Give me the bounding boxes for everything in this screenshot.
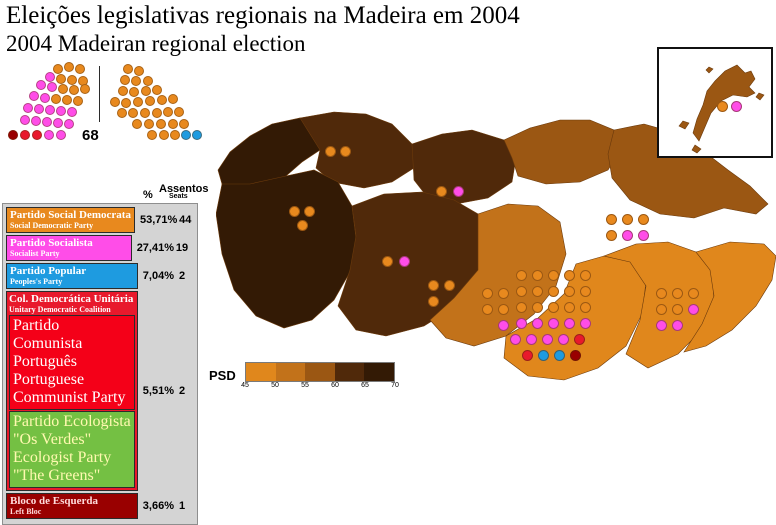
municipality-calheta	[216, 170, 356, 328]
parliament-seat-dot	[131, 76, 141, 86]
legend-col-pct: %	[143, 189, 153, 201]
scale-tick-65: 65	[361, 382, 369, 389]
map-seat-dot	[340, 146, 351, 157]
parliament-seat-dot	[147, 130, 157, 140]
parliament-seat-dot	[56, 74, 66, 84]
map-seat-dot	[526, 334, 537, 345]
map-seat-dot	[498, 304, 509, 315]
legend-seats: 19	[174, 242, 190, 254]
map-seat-dot	[570, 350, 581, 361]
map-seat-dot	[382, 256, 393, 267]
scale-tick-70: 70	[391, 382, 399, 389]
map-seat-dot	[548, 286, 559, 297]
parliament-seat-dot	[128, 108, 138, 118]
parliament-seat-dot	[144, 119, 154, 129]
parliament-seat-dot	[31, 116, 41, 126]
municipality-faial	[504, 120, 620, 184]
parliament-seat-dot	[170, 130, 180, 140]
map-seat-dot	[516, 270, 527, 281]
parliament-seat-dot	[32, 130, 42, 140]
legend-seats: 44	[177, 214, 193, 226]
map-seat-dot	[672, 288, 683, 299]
legend-col-seats-en: Seats	[169, 193, 188, 200]
map-seat-dot	[656, 288, 667, 299]
map-seat-dot	[498, 288, 509, 299]
parliament-seat-dot	[42, 117, 52, 127]
map-seat-dot	[548, 270, 559, 281]
map-seat-dot	[731, 101, 742, 112]
legend-swatch-cdu: Col. Democrática UnitáriaUnitary Democra…	[6, 291, 138, 491]
parliament-seat-dot	[67, 75, 77, 85]
legend-name-en: Left Bloc	[10, 507, 134, 516]
parliament-seat-dot	[157, 95, 167, 105]
parliament-seat-dot	[168, 119, 178, 129]
legend-swatch-pcp: Partido Comunista PortuguêsPortuguese Co…	[9, 315, 135, 410]
map-seat-dot	[548, 318, 559, 329]
map-seat-dot	[538, 350, 549, 361]
parliament-seat-dot	[62, 95, 72, 105]
scale-tick-labels: 455055606570	[245, 382, 395, 394]
parliament-seat-dot	[40, 93, 50, 103]
legend-name-en: Unitary Democratic Coalition	[9, 305, 135, 314]
map-seat-dot	[444, 280, 455, 291]
legend-header: % Assentos Seats	[2, 184, 198, 204]
parliament-seat-dot	[45, 105, 55, 115]
parliament-seat-dot	[23, 103, 33, 113]
legend-name-en: Social Democratic Party	[10, 221, 131, 230]
parliament-seat-dot	[73, 96, 83, 106]
legend-name-pt: Bloco de Esquerda	[10, 495, 134, 507]
legend-row-psd: Partido Social DemocrataSocial Democrati…	[6, 207, 194, 233]
legend-pct: 27,41%	[137, 242, 174, 254]
parliament-seat-dot	[174, 107, 184, 117]
legend-name-en: Portuguese Communist Party	[13, 371, 131, 407]
parliament-seat-dot	[36, 80, 46, 90]
legend-row-cdu: Col. Democrática UnitáriaUnitary Democra…	[6, 291, 194, 491]
map-seat-dot	[522, 350, 533, 361]
legend-name-en: Socialist Party	[10, 249, 128, 258]
parliament-seat-dot	[181, 130, 191, 140]
legend-cdu-head: Col. Democrática UnitáriaUnitary Democra…	[9, 293, 135, 314]
map-seat-dot	[574, 334, 585, 345]
map-seat-dot	[399, 256, 410, 267]
parliament-seat-dot	[64, 119, 74, 129]
map-seat-dot	[606, 214, 617, 225]
parliament-seat-dot	[120, 75, 130, 85]
parliament-seat-dot	[159, 130, 169, 140]
legend-numbers: 5,51%2	[138, 291, 194, 491]
parliament-seat-dot	[141, 86, 151, 96]
map-seat-dot	[558, 334, 569, 345]
parliament-seat-dot	[163, 107, 173, 117]
legend-swatch-cds-pp: Partido PopularPeoples's Party	[6, 263, 138, 289]
legend-row-ps: Partido SocialistaSocialist Party27,41%1…	[6, 235, 194, 261]
map-seat-dot	[564, 270, 575, 281]
map-seat-dot	[564, 286, 575, 297]
map-seat-dot	[482, 304, 493, 315]
map-seat-dot	[532, 286, 543, 297]
party-legend-table: Partido Social DemocrataSocial Democrati…	[2, 203, 198, 525]
parliament-seat-dot	[75, 64, 85, 74]
parliament-seat-dot	[129, 87, 139, 97]
scale-segment-1	[276, 363, 306, 381]
parliament-seat-dot	[56, 106, 66, 116]
map-seat-dot	[656, 304, 667, 315]
map-seat-dot	[297, 220, 308, 231]
legend-name-pt: Col. Democrática Unitária	[9, 293, 135, 305]
parliament-seat-dot	[123, 64, 133, 74]
parliament-seat-dot	[117, 108, 127, 118]
scale-tick-45: 45	[241, 382, 249, 389]
legend-swatch-ps: Partido SocialistaSocialist Party	[6, 235, 132, 261]
parliament-seat-dot	[51, 94, 61, 104]
parliament-seat-dot	[29, 91, 39, 101]
parliament-seat-dot	[145, 96, 155, 106]
map-seat-dot	[532, 270, 543, 281]
scale-party-label: PSD	[209, 368, 236, 383]
parliament-seat-dot	[69, 85, 79, 95]
parliament-seat-dot	[58, 84, 68, 94]
legend-numbers: 53,71%44	[135, 207, 197, 233]
parliament-seat-dot	[47, 82, 57, 92]
map-seat-dot	[580, 286, 591, 297]
map-seat-dot	[289, 206, 300, 217]
scale-segment-2	[305, 363, 335, 381]
map-seat-dot	[516, 318, 527, 329]
legend-seats: 2	[174, 270, 190, 282]
map-seat-dot	[622, 230, 633, 241]
map-seat-dot	[688, 304, 699, 315]
map-seat-dot	[638, 230, 649, 241]
parliament-seat-dot	[110, 97, 120, 107]
legend-row-be: Bloco de EsquerdaLeft Bloc3,66%1	[6, 493, 194, 519]
legend-numbers: 7,04%2	[138, 263, 194, 289]
scale-segment-0	[246, 363, 276, 381]
scale-tick-50: 50	[271, 382, 279, 389]
map-seat-dot	[688, 288, 699, 299]
parliament-seat-dot	[118, 86, 128, 96]
map-seat-dot	[542, 334, 553, 345]
parliament-seat-dot	[53, 64, 63, 74]
legend-swatch-psd: Partido Social DemocrataSocial Democrati…	[6, 207, 135, 233]
parliament-seat-dot	[152, 108, 162, 118]
map-seat-dot	[606, 230, 617, 241]
legend-swatch-pev: Partido Ecologista "Os Verdes"Ecologist …	[9, 411, 135, 488]
map-seat-dot	[498, 320, 509, 331]
parliament-seat-diagram	[4, 62, 216, 162]
map-seat-dot	[516, 286, 527, 297]
map-seat-dot	[656, 320, 667, 331]
parliament-seat-dot	[132, 119, 142, 129]
map-seat-dot	[325, 146, 336, 157]
map-seat-dot	[580, 302, 591, 313]
parliament-seat-dot	[56, 130, 66, 140]
map-seat-dot	[564, 302, 575, 313]
map-seat-dot	[672, 320, 683, 331]
parliament-seat-dot	[133, 97, 143, 107]
map-seat-dot	[532, 302, 543, 313]
legend-name-pt: Partido Social Democrata	[10, 209, 131, 221]
porto-santo-inset-map	[657, 47, 773, 158]
municipality-santana	[412, 130, 516, 204]
scale-tick-55: 55	[301, 382, 309, 389]
map-seat-dot	[482, 288, 493, 299]
map-seat-dot	[436, 186, 447, 197]
scale-tick-60: 60	[331, 382, 339, 389]
legend-name-pt: Partido Comunista Português	[13, 317, 131, 371]
scale-gradient-bar	[245, 362, 395, 382]
legend-pct: 53,71%	[140, 214, 177, 226]
map-seat-dot	[532, 318, 543, 329]
parliament-seat-dot	[179, 119, 189, 129]
parliament-seat-dot	[80, 84, 90, 94]
map-seat-dot	[548, 302, 559, 313]
legend-name-pt: Partido Ecologista "Os Verdes"	[13, 413, 131, 449]
map-seat-dot	[554, 350, 565, 361]
map-seat-dot	[717, 101, 728, 112]
total-seats-label: 68	[82, 127, 99, 144]
legend-seats: 1	[174, 500, 190, 512]
map-seat-dot	[510, 334, 521, 345]
parliament-seat-dot	[20, 115, 30, 125]
map-seat-dot	[428, 296, 439, 307]
map-seat-dot	[564, 318, 575, 329]
parliament-seat-dot	[140, 108, 150, 118]
scale-segment-3	[335, 363, 365, 381]
page-title-en: 2004 Madeiran regional election	[6, 31, 306, 57]
parliament-seat-dot	[34, 104, 44, 114]
parliament-seat-dot	[20, 130, 30, 140]
parliament-seat-dot	[168, 94, 178, 104]
parliament-seat-dot	[152, 85, 162, 95]
map-seat-dot	[580, 270, 591, 281]
parliament-seat-dot	[156, 119, 166, 129]
map-seat-dot	[453, 186, 464, 197]
scale-segment-4	[364, 363, 394, 381]
map-seat-dot	[428, 280, 439, 291]
parliament-seat-dot	[67, 107, 77, 117]
legend-name-en: Ecologist Party "The Greens"	[13, 449, 131, 485]
map-seat-dot	[672, 304, 683, 315]
legend-row-cds-pp: Partido PopularPeoples's Party7,04%2	[6, 263, 194, 289]
map-seat-dot	[638, 214, 649, 225]
parliament-seat-dot	[134, 66, 144, 76]
legend-swatch-be: Bloco de EsquerdaLeft Bloc	[6, 493, 138, 519]
parliament-seat-dot	[53, 118, 63, 128]
legend-name-en: Peoples's Party	[10, 277, 134, 286]
map-seat-dot	[580, 318, 591, 329]
parliament-seat-dot	[45, 72, 55, 82]
legend-numbers: 3,66%1	[138, 493, 194, 519]
parliament-seat-dot	[8, 130, 18, 140]
parliament-seat-dot	[192, 130, 202, 140]
parliament-seat-dot	[143, 76, 153, 86]
legend-pct: 3,66%	[143, 500, 174, 512]
infographic-canvas: Eleições legislativas regionais na Madei…	[0, 0, 776, 405]
map-seat-dot	[622, 214, 633, 225]
map-seat-dot	[516, 302, 527, 313]
parliament-seat-dot	[121, 98, 131, 108]
parliament-seat-dot	[44, 130, 54, 140]
page-title-pt: Eleições legislativas regionais na Madei…	[6, 2, 520, 30]
parliament-center-divider	[99, 66, 100, 122]
legend-pct: 7,04%	[143, 270, 174, 282]
legend-pct: 5,51%	[143, 385, 174, 397]
parliament-seat-dot	[64, 62, 74, 72]
legend-name-pt: Partido Socialista	[10, 237, 128, 249]
legend-numbers: 27,41%19	[132, 235, 194, 261]
legend-seats: 2	[174, 385, 190, 397]
porto-santo-polygon	[659, 49, 771, 156]
legend-name-pt: Partido Popular	[10, 265, 134, 277]
map-scale: PSD 455055606570	[209, 362, 399, 396]
map-seat-dot	[304, 206, 315, 217]
